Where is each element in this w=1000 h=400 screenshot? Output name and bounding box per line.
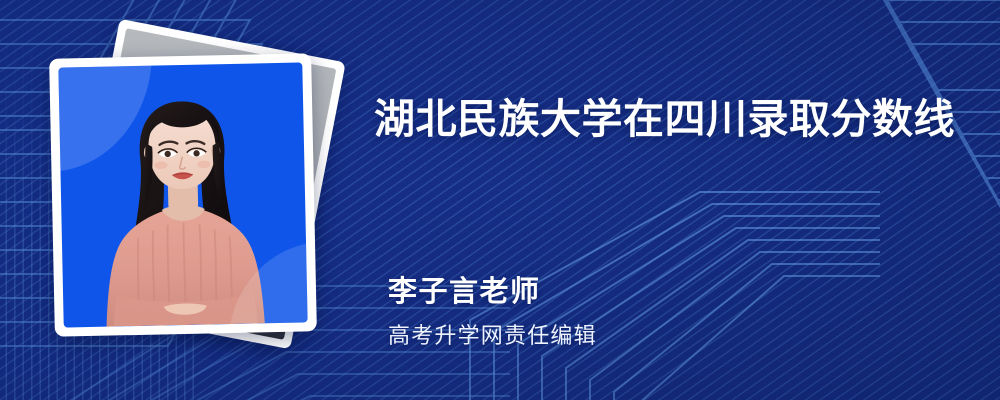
page-title: 湖北民族大学在四川录取分数线	[374, 96, 955, 143]
text-column: 湖北民族大学在四川录取分数线 李子言老师 高考升学网责任编辑	[374, 0, 974, 400]
promo-banner: 湖北民族大学在四川录取分数线 李子言老师 高考升学网责任编辑	[0, 0, 1000, 400]
author-role: 高考升学网责任编辑	[388, 318, 597, 350]
author-photo-stack	[52, 34, 352, 364]
author-name: 李子言老师	[388, 268, 541, 310]
author-portrait-illustration	[58, 62, 307, 327]
photo-card-front	[49, 53, 317, 336]
avatar	[58, 62, 307, 327]
